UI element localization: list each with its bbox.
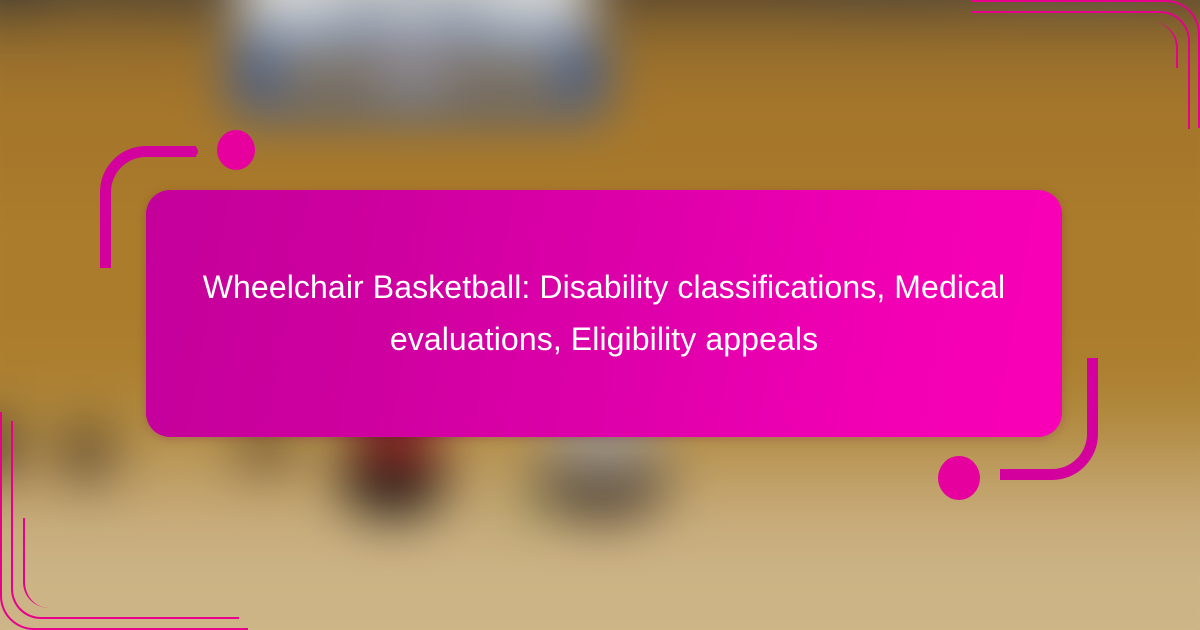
page-title: Wheelchair Basketball: Disability classi… [200,262,1008,366]
decorative-dot-top-icon [217,130,255,170]
decorative-dot-bottom-icon [938,456,980,500]
title-card: Wheelchair Basketball: Disability classi… [146,190,1062,437]
bracket-cap [100,256,111,268]
bracket-cap [1000,469,1012,480]
bracket-cap [186,146,198,157]
bracket-cap [1087,358,1098,370]
